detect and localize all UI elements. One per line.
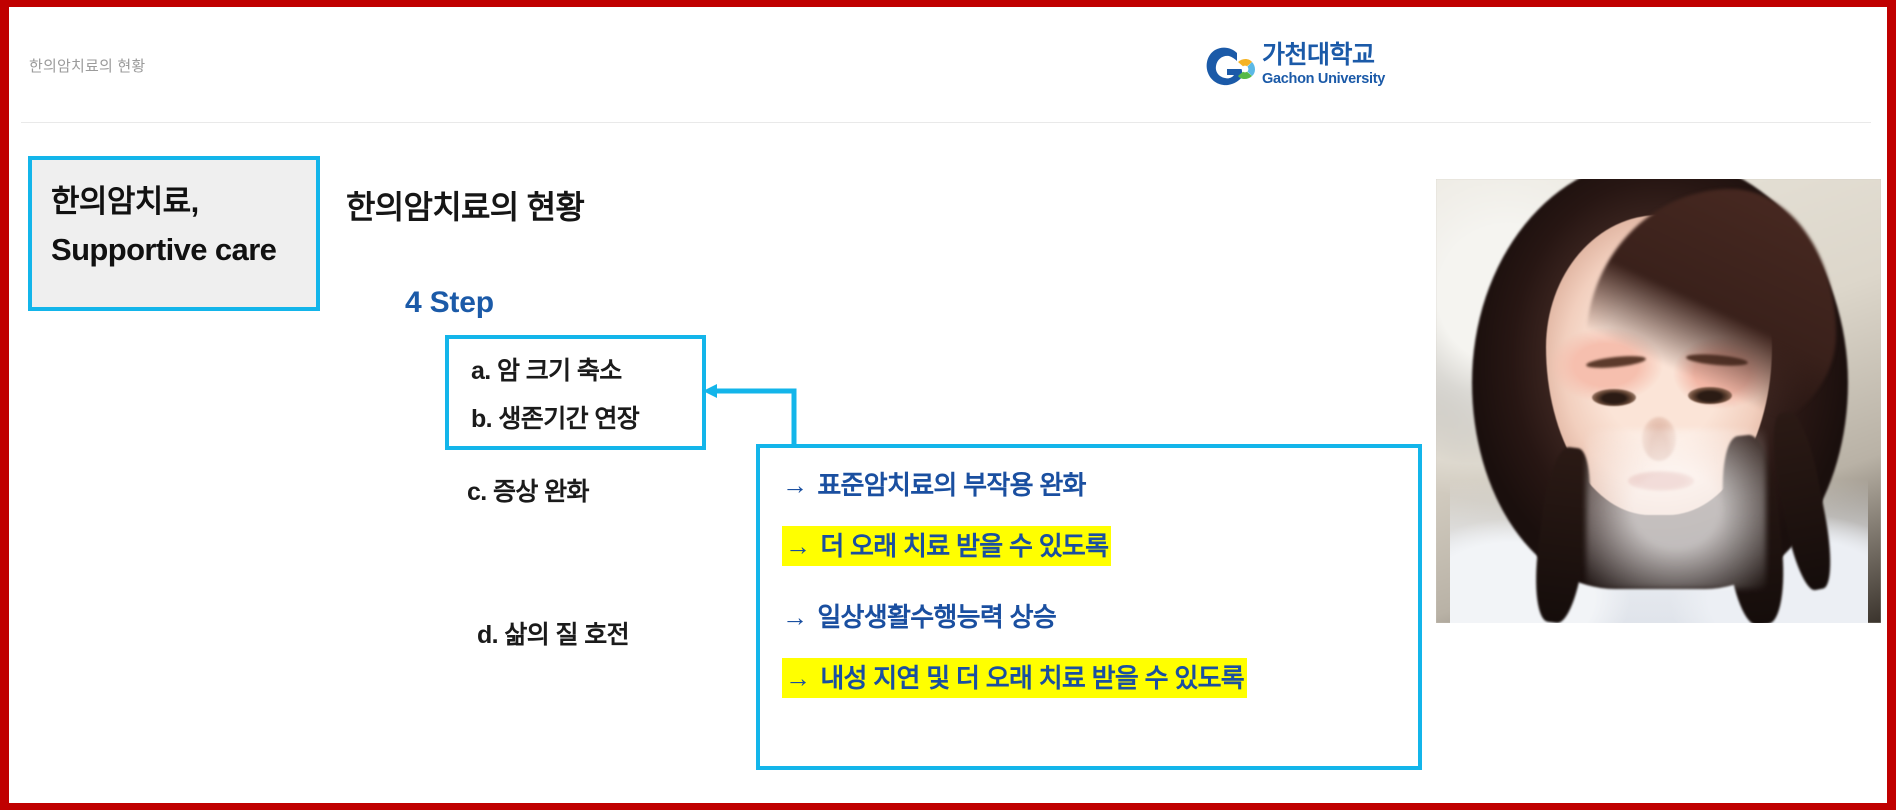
screen-frame: 한의암치료의 현황 가천대학교 Gachon University (0, 0, 1896, 810)
gachon-g-logo-mark-icon (1204, 44, 1256, 94)
outcome-line-4: →내성 지연 및 더 오래 치료 받을 수 있도록 (782, 658, 1247, 698)
arrow-right-icon: → (782, 470, 807, 500)
step-a-text: 암 크기 축소 (497, 357, 622, 385)
header-divider (21, 122, 1871, 123)
section-title-line-1: 한의암치료, (51, 178, 316, 226)
arrow-right-icon: → (782, 602, 807, 632)
outcome-line-2-text: 더 오래 치료 받을 수 있도록 (820, 531, 1108, 561)
outcome-line-1: →표준암치료의 부작용 완화 (782, 466, 1086, 504)
steps-ab-highlight-box: a. 암 크기 축소 b. 생존기간 연장 (445, 335, 706, 450)
step-c-text: 증상 완화 (493, 478, 589, 506)
step-item-d: d. 삶의 질 호전 (477, 615, 629, 651)
logo-english-name: Gachon University (1262, 71, 1385, 87)
slide-title: 한의암치료의 현황 (346, 182, 584, 228)
outcome-row-2: →더 오래 치료 받을 수 있도록 (782, 526, 1418, 566)
arrow-right-icon: → (785, 663, 810, 693)
outcome-line-4-text: 내성 지연 및 더 오래 치료 받을 수 있도록 (820, 663, 1244, 693)
outcome-line-1-text: 표준암치료의 부작용 완화 (817, 470, 1085, 500)
logo-wordmark: 가천대학교 Gachon University (1262, 40, 1380, 88)
breadcrumb: 한의암치료의 현황 (29, 55, 145, 76)
section-title-line-2: Supportive care (51, 226, 316, 274)
outcome-line-3: →일상생활수행능력 상승 (782, 598, 1056, 636)
presenter-video-panel[interactable] (1436, 179, 1881, 623)
slide-stage: 한의암치료의 현황 가천대학교 Gachon University (9, 7, 1887, 803)
arrow-right-icon: → (785, 531, 810, 561)
outcome-row-3: →일상생활수행능력 상승 (782, 598, 1418, 636)
step-label: 4 Step (405, 286, 494, 320)
outcome-line-2: →더 오래 치료 받을 수 있도록 (782, 526, 1111, 566)
outcomes-detail-box: →표준암치료의 부작용 완화 →더 오래 치료 받을 수 있도록 →일상생활수행… (756, 444, 1422, 770)
step-d-text: 삶의 질 호전 (504, 621, 629, 649)
outcome-row-4: →내성 지연 및 더 오래 치료 받을 수 있도록 (782, 658, 1418, 698)
step-item-a: a. 암 크기 축소 (471, 351, 622, 387)
section-title-callout: 한의암치료, Supportive care (28, 156, 320, 311)
step-a-marker: a. (471, 357, 491, 385)
slide-header: 한의암치료의 현황 가천대학교 Gachon University (9, 7, 1887, 122)
step-b-marker: b. (471, 405, 492, 433)
logo-korean-name: 가천대학교 (1262, 41, 1375, 69)
step-c-marker: c. (467, 478, 487, 506)
video-highlight-glow (1586, 429, 1766, 589)
outcome-row-1: →표준암치료의 부작용 완화 (782, 466, 1418, 504)
elbow-arrow-connector-icon (699, 375, 829, 455)
outcome-line-3-text: 일상생활수행능력 상승 (817, 602, 1056, 632)
university-logo: 가천대학교 Gachon University (1204, 40, 1376, 98)
step-b-text: 생존기간 연장 (498, 405, 639, 433)
step-item-b: b. 생존기간 연장 (471, 399, 639, 435)
step-d-marker: d. (477, 621, 498, 649)
step-item-c: c. 증상 완화 (467, 472, 589, 508)
